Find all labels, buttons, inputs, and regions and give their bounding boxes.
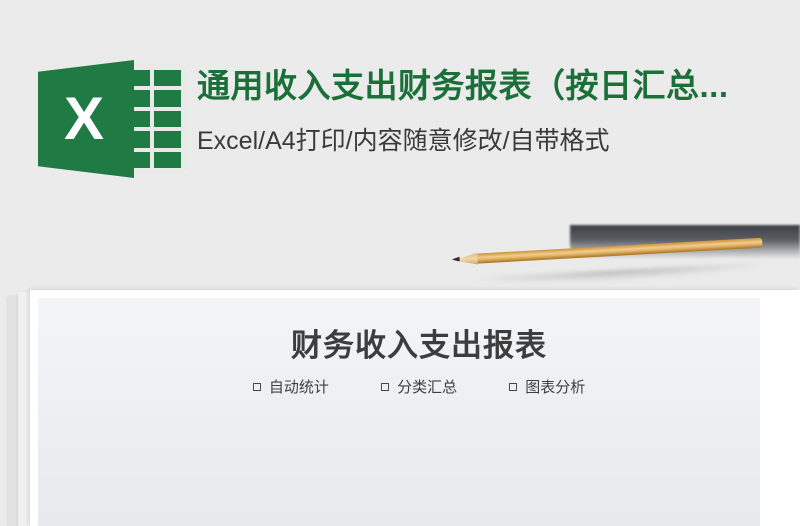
page-right-margin — [760, 290, 800, 526]
checkbox-icon[interactable] — [509, 383, 517, 391]
checklist-item-category-summary[interactable]: 分类汇总 — [381, 376, 457, 397]
logo-letter: X — [38, 60, 134, 178]
checklist-item-chart-analysis[interactable]: 图表分析 — [509, 376, 585, 397]
checkbox-icon[interactable] — [381, 383, 389, 391]
report-feature-checklist: 自动统计 分类汇总 图表分析 — [38, 376, 800, 397]
document-page-content: 财务收入支出报表 自动统计 分类汇总 图表分析 — [38, 298, 800, 526]
header-banner: X 通用收入支出财务报表（按日汇总... Excel/A4打印/内容随意修改/自… — [0, 0, 800, 232]
checklist-label: 自动统计 — [269, 379, 329, 396]
checkbox-icon[interactable] — [253, 383, 261, 391]
page-subtitle: Excel/A4打印/内容随意修改/自带格式 — [197, 121, 800, 161]
checklist-label: 分类汇总 — [397, 379, 457, 396]
report-title: 财务收入支出报表 — [38, 320, 800, 365]
page-title: 通用收入支出财务报表（按日汇总... — [197, 63, 800, 109]
checklist-label: 图表分析 — [525, 379, 585, 396]
checklist-item-auto-stat[interactable]: 自动统计 — [253, 376, 329, 397]
excel-logo-icon: X — [38, 60, 190, 178]
pencil-lead — [452, 257, 460, 262]
title-block: 通用收入支出财务报表（按日汇总... Excel/A4打印/内容随意修改/自带格… — [197, 63, 800, 161]
document-preview-page[interactable]: 财务收入支出报表 自动统计 分类汇总 图表分析 — [30, 290, 800, 526]
